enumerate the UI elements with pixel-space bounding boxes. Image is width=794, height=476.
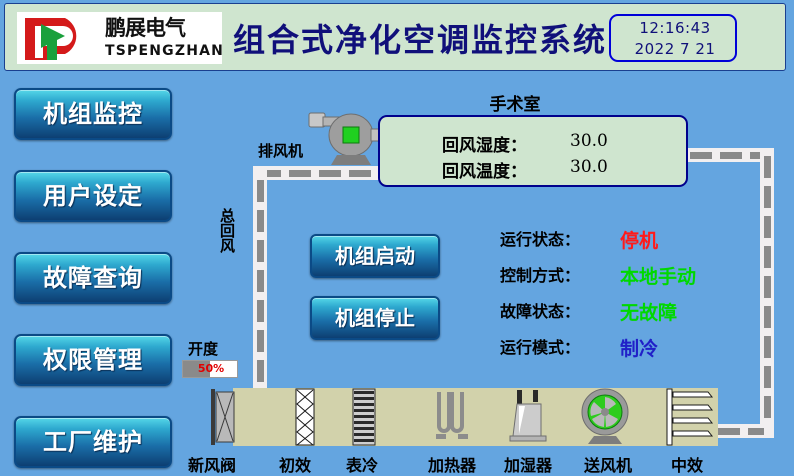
heater-icon bbox=[432, 390, 472, 446]
sidebar-item-label: 机组监控 bbox=[16, 90, 170, 138]
unit-start-label: 机组启动 bbox=[312, 236, 438, 276]
humidifier-icon bbox=[505, 388, 553, 446]
room-temperature-row: 回风温度： 30.0 bbox=[380, 157, 690, 183]
duct-dash bbox=[720, 152, 742, 159]
supply-fan-icon bbox=[578, 386, 634, 446]
primary-filter-icon bbox=[295, 388, 315, 446]
duct-dash bbox=[257, 270, 264, 292]
header-bar: 鹏展电气 TSPENGZHAN 组合式净化空调监控系统 12:16:43 202… bbox=[4, 3, 786, 71]
equipment-label-heater: 加热器 bbox=[420, 452, 484, 476]
duct-dash bbox=[257, 300, 264, 322]
company-logo: 鹏展电气 TSPENGZHAN bbox=[17, 12, 222, 64]
logo-english-name: TSPENGZHAN bbox=[105, 42, 222, 60]
fault-state-value: 无故障 bbox=[620, 298, 677, 325]
sidebar-item-fault-query[interactable]: 故障查询 bbox=[14, 252, 172, 304]
duct-dash bbox=[764, 276, 771, 298]
duct-dash bbox=[764, 156, 771, 178]
sidebar-item-label: 用户设定 bbox=[16, 172, 170, 220]
equipment-label-primary-filter: 初效 bbox=[270, 452, 320, 476]
duct-dash bbox=[349, 170, 371, 177]
unit-stop-label: 机组停止 bbox=[312, 298, 438, 338]
duct-dash bbox=[764, 396, 771, 418]
duct-dash bbox=[319, 170, 341, 177]
duct-dash bbox=[764, 216, 771, 238]
duct-dash bbox=[257, 330, 264, 352]
clock-time: 12:16:43 bbox=[611, 19, 739, 37]
room-humidity-row: 回风湿度： 30.0 bbox=[380, 131, 690, 157]
medium-filter-icon bbox=[666, 388, 716, 446]
equipment-label-cooling-coil: 表冷 bbox=[337, 452, 387, 476]
fresh-air-damper-icon bbox=[210, 388, 236, 446]
clock-date: 2022 7 21 bbox=[611, 40, 739, 58]
duct-dash bbox=[690, 152, 712, 159]
clock-panel: 12:16:43 2022 7 21 bbox=[609, 14, 737, 62]
duct-left-vertical bbox=[253, 166, 267, 394]
damper-opening-label: 开度 bbox=[188, 338, 234, 359]
run-state-label: 运行状态： bbox=[500, 226, 580, 250]
duct-right-vertical bbox=[760, 148, 774, 438]
duct-dash bbox=[257, 180, 264, 202]
sidebar-item-label: 故障查询 bbox=[16, 254, 170, 302]
duct-dash bbox=[764, 366, 771, 388]
equipment-label-medium-filter: 中效 bbox=[662, 452, 712, 476]
equipment-label-fresh-air-damper: 新风阀 bbox=[180, 452, 244, 476]
unit-start-button[interactable]: 机组启动 bbox=[310, 234, 440, 278]
equipment-label-humidifier: 加湿器 bbox=[496, 452, 560, 476]
run-state-value: 停机 bbox=[620, 226, 658, 253]
duct-dash bbox=[718, 428, 740, 435]
duct-dash bbox=[764, 246, 771, 268]
room-humidity-label: 回风湿度： bbox=[442, 131, 527, 156]
fault-state-label: 故障状态： bbox=[500, 298, 580, 322]
duct-dash bbox=[748, 428, 764, 435]
duct-dash bbox=[289, 170, 311, 177]
damper-opening-bar[interactable]: 50% bbox=[182, 360, 238, 378]
room-temperature-value: 30.0 bbox=[570, 157, 608, 177]
unit-stop-button[interactable]: 机组停止 bbox=[310, 296, 440, 340]
duct-dash bbox=[257, 240, 264, 262]
sidebar-item-label: 工厂维护 bbox=[16, 418, 170, 466]
control-mode-label: 控制方式： bbox=[500, 262, 580, 286]
duct-dash bbox=[257, 360, 264, 382]
room-readout-panel: 回风湿度： 30.0 回风温度： 30.0 bbox=[378, 115, 688, 187]
sidebar-item-factory-service[interactable]: 工厂维护 bbox=[14, 416, 172, 468]
return-air-label: 总回风 bbox=[218, 208, 238, 253]
logo-mark-icon bbox=[21, 14, 103, 62]
duct-bottom-right bbox=[712, 424, 774, 438]
duct-dash bbox=[257, 210, 264, 232]
duct-dash bbox=[764, 306, 771, 328]
return-air-text: 总回风 bbox=[218, 208, 235, 253]
equipment-label-supply-fan: 送风机 bbox=[576, 452, 640, 476]
sidebar-item-unit-monitor[interactable]: 机组监控 bbox=[14, 88, 172, 140]
duct-dash bbox=[764, 336, 771, 358]
run-mode-value: 制冷 bbox=[620, 334, 658, 361]
duct-dash bbox=[764, 186, 771, 208]
sidebar-item-permissions[interactable]: 权限管理 bbox=[14, 334, 172, 386]
sidebar-item-user-settings[interactable]: 用户设定 bbox=[14, 170, 172, 222]
sidebar-item-label: 权限管理 bbox=[16, 336, 170, 384]
logo-chinese-name: 鹏展电气 bbox=[105, 15, 220, 41]
room-humidity-value: 30.0 bbox=[570, 131, 608, 151]
run-mode-label: 运行模式： bbox=[500, 334, 580, 358]
damper-opening-percent: 50% bbox=[183, 361, 239, 377]
cooling-coil-icon bbox=[352, 388, 376, 446]
control-mode-value: 本地手动 bbox=[620, 262, 696, 289]
room-title: 手术室 bbox=[455, 90, 575, 115]
room-temperature-label: 回风温度： bbox=[442, 157, 527, 182]
page-title: 组合式净化空调监控系统 bbox=[233, 18, 593, 62]
